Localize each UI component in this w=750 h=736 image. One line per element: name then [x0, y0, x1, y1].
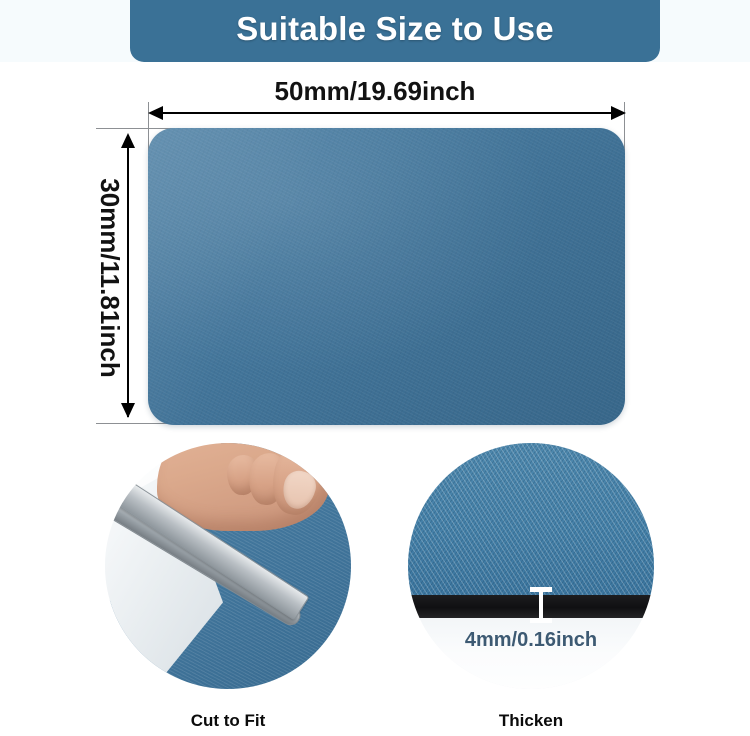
dimension-diagram: 50mm/19.69inch 30mm/11.81inch — [0, 62, 750, 434]
width-dimension-label: 50mm/19.69inch — [0, 76, 750, 107]
arrow-right-icon — [611, 106, 626, 120]
thicken-photo: 4mm/0.16inch — [408, 443, 654, 689]
feature-photos: 4mm/0.16inch — [0, 434, 750, 736]
arrow-up-icon — [121, 133, 135, 148]
arrow-down-icon — [121, 403, 135, 418]
mat-top-layer — [408, 443, 654, 595]
caption-cut-to-fit: Cut to Fit — [105, 711, 351, 731]
page-title: Suitable Size to Use — [236, 10, 554, 48]
title-banner: Suitable Size to Use — [130, 0, 660, 62]
caliper-cap-bottom — [530, 618, 552, 623]
arrow-left-icon — [148, 106, 163, 120]
product-mat — [148, 128, 625, 425]
product-infographic: Suitable Size to Use 50mm/19.69inch 30mm… — [0, 0, 750, 736]
width-dimension-line — [150, 112, 624, 114]
thickness-caliper-icon — [530, 587, 552, 623]
height-dimension-label: 30mm/11.81inch — [95, 138, 125, 418]
mat-sheen — [148, 128, 625, 425]
caption-thicken: Thicken — [408, 711, 654, 731]
cut-to-fit-photo — [105, 443, 351, 689]
thickness-label: 4mm/0.16inch — [408, 629, 654, 652]
height-dimension-line — [127, 136, 129, 417]
scissors-pivot — [119, 487, 126, 494]
